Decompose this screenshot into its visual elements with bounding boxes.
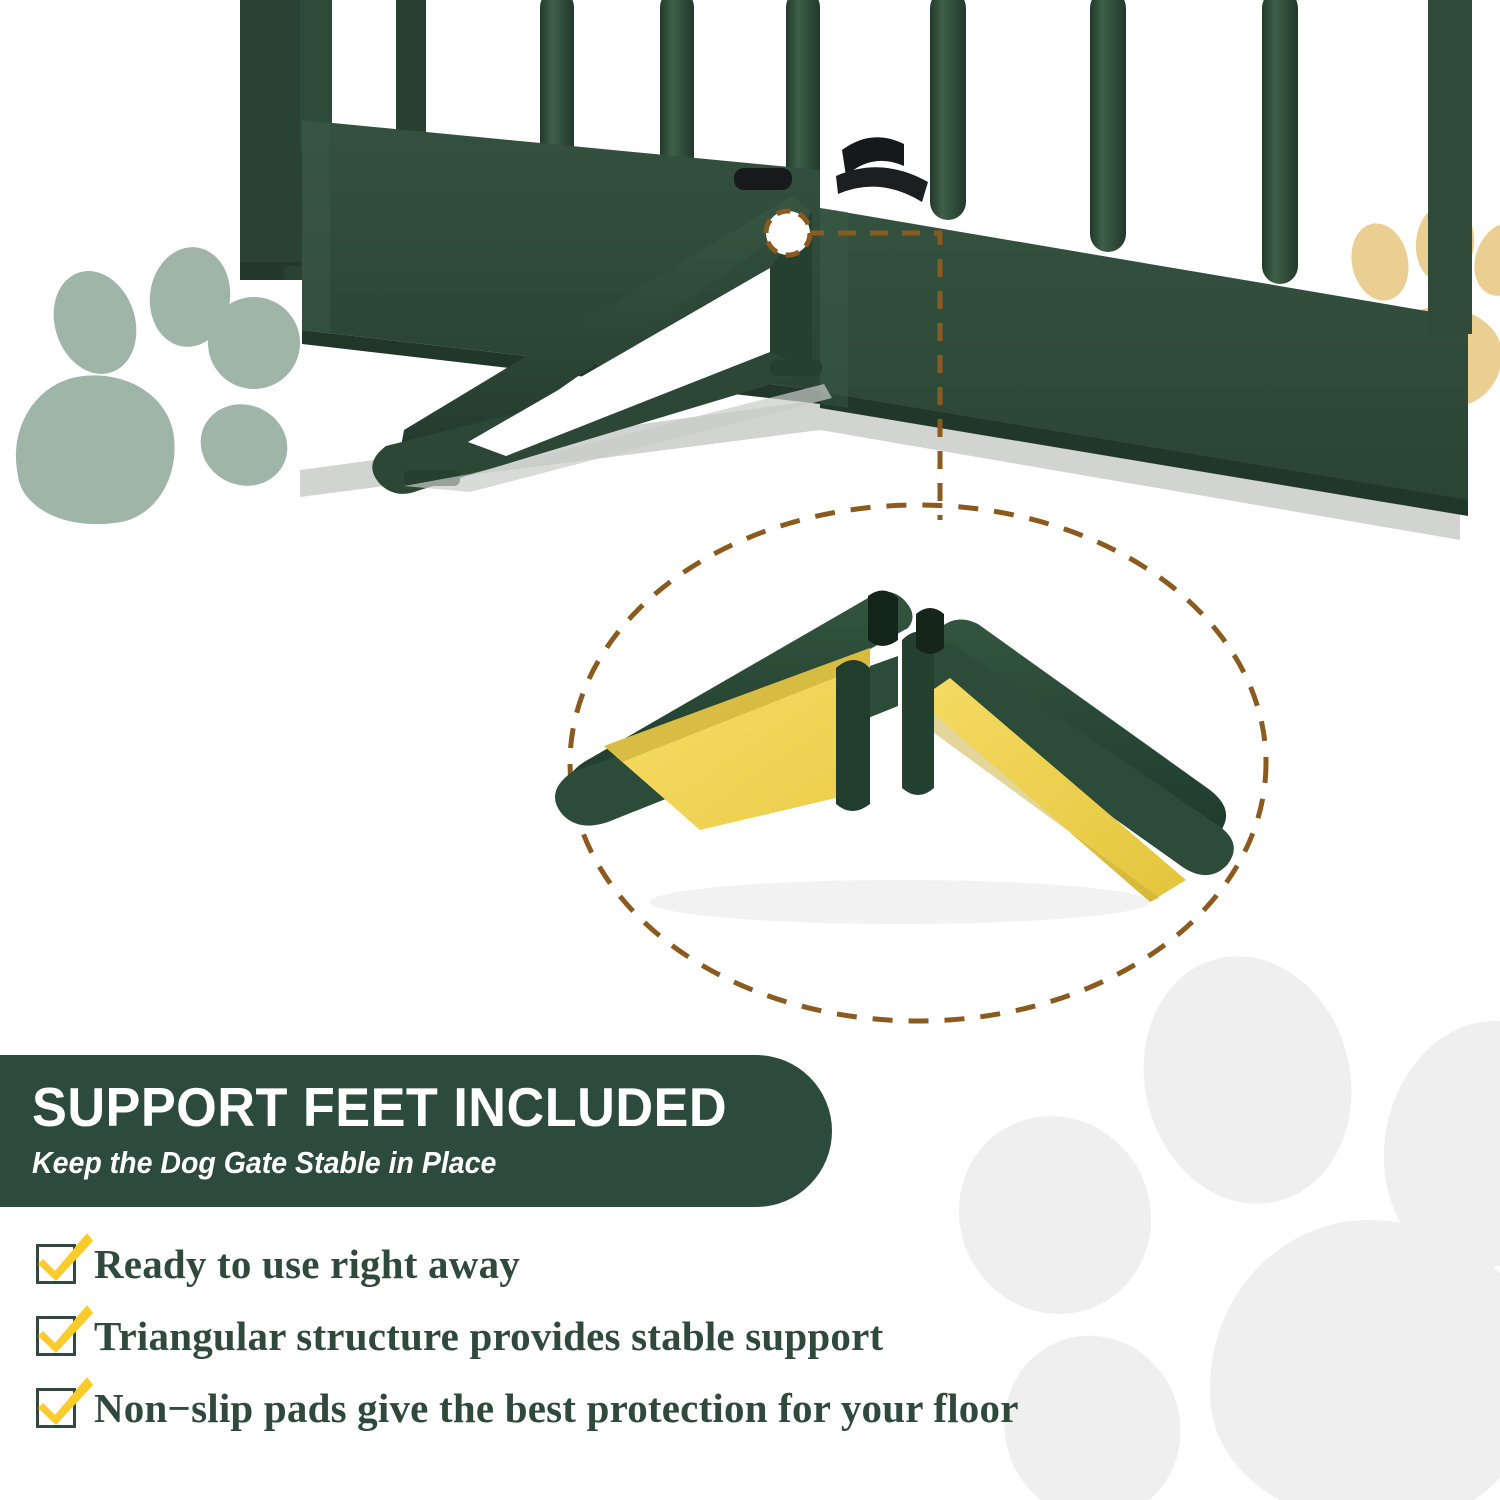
dog-gate-illustration (0, 0, 1500, 1060)
headline-title: SUPPORT FEET INCLUDED (32, 1075, 727, 1139)
gate-right-post (1428, 0, 1472, 334)
gate-hinge-strap (836, 167, 928, 202)
checkbox-outline (36, 1388, 76, 1428)
feature-text: Ready to use right away (94, 1240, 520, 1288)
checkbox-outline (36, 1244, 76, 1284)
product-feature-image: SUPPORT FEET INCLUDED Keep the Dog Gate … (0, 0, 1500, 1500)
checkmark-icon (37, 1377, 93, 1427)
feature-list: Ready to use right away Triangular struc… (36, 1228, 1019, 1444)
feature-text: Triangular structure provides stable sup… (94, 1312, 883, 1360)
feature-text: Non−slip pads give the best protection f… (94, 1384, 1019, 1432)
headline-banner: SUPPORT FEET INCLUDED Keep the Dog Gate … (0, 1055, 832, 1207)
feature-item: Non−slip pads give the best protection f… (36, 1372, 1019, 1444)
feature-item: Triangular structure provides stable sup… (36, 1300, 1019, 1372)
gate-left-rail-highlight (302, 120, 330, 334)
checkmark-icon (37, 1233, 93, 1283)
feature-item: Ready to use right away (36, 1228, 1019, 1300)
gate-right-rail-highlight (820, 208, 848, 408)
checkmark-icon (37, 1305, 93, 1355)
gate-latch-block (734, 168, 792, 190)
gate-left-post (240, 0, 302, 272)
checkbox-outline (36, 1316, 76, 1356)
paw-pad (1210, 1220, 1500, 1500)
headline-subtitle: Keep the Dog Gate Stable in Place (32, 1145, 496, 1181)
